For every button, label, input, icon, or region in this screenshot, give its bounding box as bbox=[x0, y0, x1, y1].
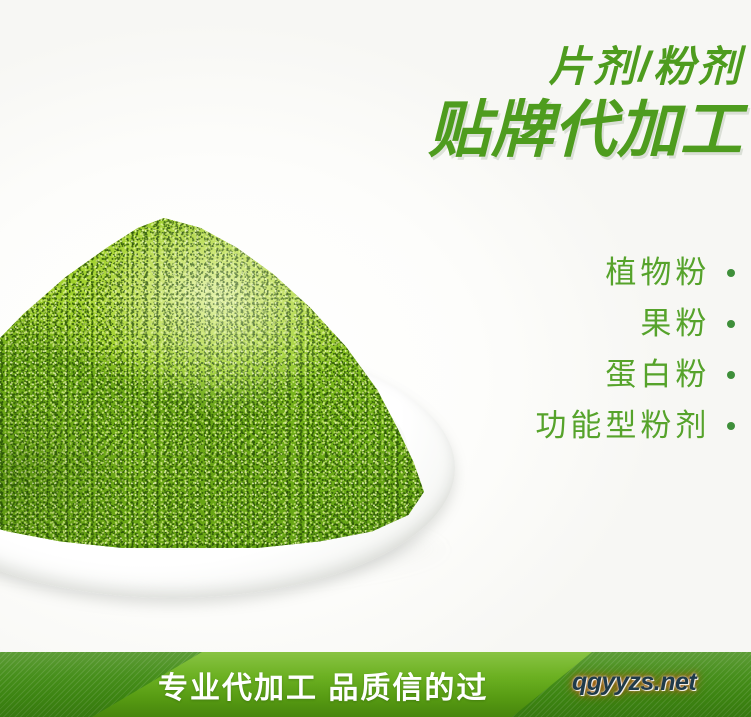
feature-label: 蛋白粉 bbox=[605, 357, 710, 392]
powder-mound-body bbox=[0, 218, 424, 548]
bullet-dot-icon bbox=[727, 320, 735, 328]
powder-highlight bbox=[0, 218, 424, 548]
feature-item-fruit-powder: 果粉 bbox=[535, 307, 735, 341]
bullet-dot-icon bbox=[727, 371, 735, 379]
headline-block: 片剂/粉剂 贴牌代加工 bbox=[428, 46, 743, 162]
feature-item-plant-powder: 植物粉 bbox=[535, 256, 735, 290]
feature-item-protein-powder: 蛋白粉 bbox=[535, 358, 735, 392]
banner-slogan: 专业代加工 品质信的过 bbox=[158, 652, 488, 717]
feature-label: 植物粉 bbox=[605, 255, 710, 290]
feature-label: 果粉 bbox=[640, 306, 710, 341]
promo-poster: 片剂/粉剂 贴牌代加工 植物粉 果粉 蛋白粉 功能型粉剂 专业代加工 品质信的过… bbox=[0, 0, 751, 717]
bullet-dot-icon bbox=[727, 422, 735, 430]
powder-mound bbox=[0, 218, 424, 548]
headline-line-2: 贴牌代加工 bbox=[428, 100, 743, 162]
headline-line-1: 片剂/粉剂 bbox=[428, 46, 743, 88]
feature-label: 功能型粉剂 bbox=[535, 408, 710, 443]
feature-item-functional-powder: 功能型粉剂 bbox=[535, 409, 735, 443]
product-image-green-powder bbox=[0, 218, 480, 628]
site-watermark: qgyyzs.net bbox=[572, 668, 696, 697]
bullet-dot-icon bbox=[727, 269, 735, 277]
feature-list: 植物粉 果粉 蛋白粉 功能型粉剂 bbox=[535, 256, 735, 443]
